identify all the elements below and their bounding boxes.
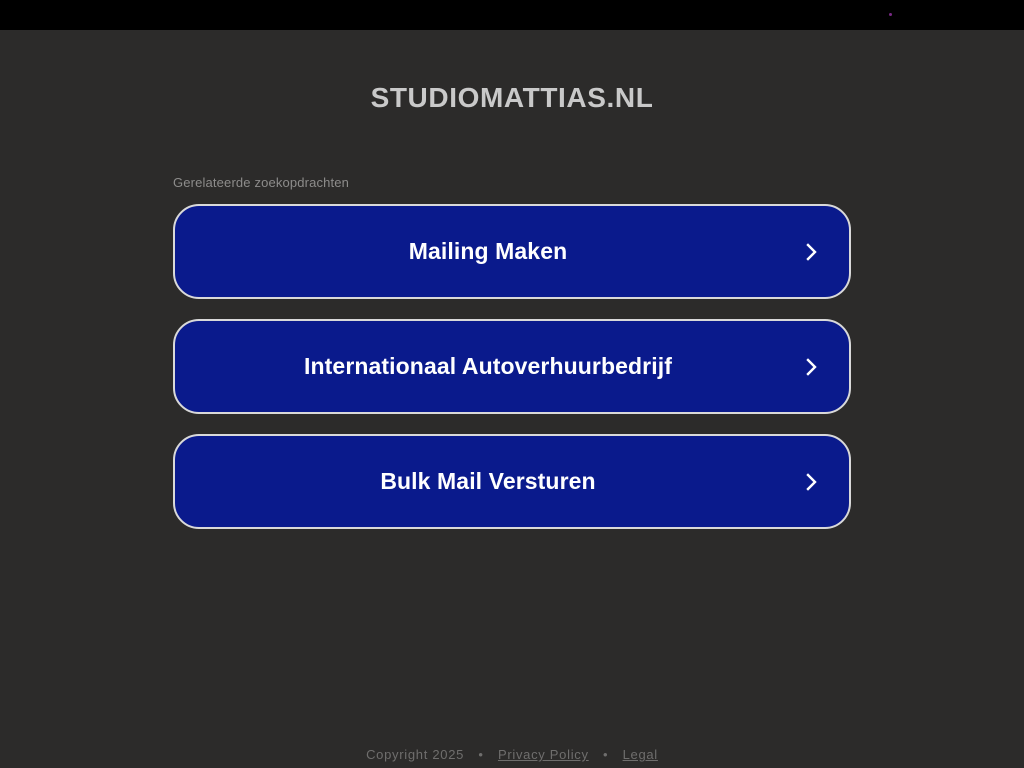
- related-search-item-0[interactable]: Mailing Maken: [173, 204, 851, 299]
- related-search-item-1[interactable]: Internationaal Autoverhuurbedrijf: [173, 319, 851, 414]
- tab-indicator-dot: [889, 13, 892, 16]
- footer-link-privacy-policy[interactable]: Privacy Policy: [498, 747, 589, 762]
- chevron-right-icon: [805, 471, 819, 493]
- related-search-label: Mailing Maken: [353, 238, 624, 265]
- page-stage: STUDIOMATTIAS.NL Gerelateerde zoekopdrac…: [0, 30, 1024, 768]
- chevron-right-icon: [805, 241, 819, 263]
- related-search-label: Bulk Mail Versturen: [324, 468, 651, 495]
- related-searches-label: Gerelateerde zoekopdrachten: [173, 175, 851, 190]
- page-title: STUDIOMATTIAS.NL: [0, 82, 1024, 114]
- related-searches-list: Mailing Maken Internationaal Autoverhuur…: [173, 204, 851, 529]
- related-search-item-2[interactable]: Bulk Mail Versturen: [173, 434, 851, 529]
- browser-top-bar: [0, 0, 1024, 30]
- footer-link-legal[interactable]: Legal: [623, 747, 658, 762]
- footer-separator: •: [468, 747, 493, 762]
- page-footer: Copyright 2025 • Privacy Policy • Legal: [0, 747, 1024, 762]
- footer-separator: •: [593, 747, 618, 762]
- related-searches-section: Gerelateerde zoekopdrachten Mailing Make…: [173, 175, 851, 529]
- chevron-right-icon: [805, 356, 819, 378]
- related-search-label: Internationaal Autoverhuurbedrijf: [248, 353, 728, 380]
- footer-copyright: Copyright 2025: [366, 747, 464, 762]
